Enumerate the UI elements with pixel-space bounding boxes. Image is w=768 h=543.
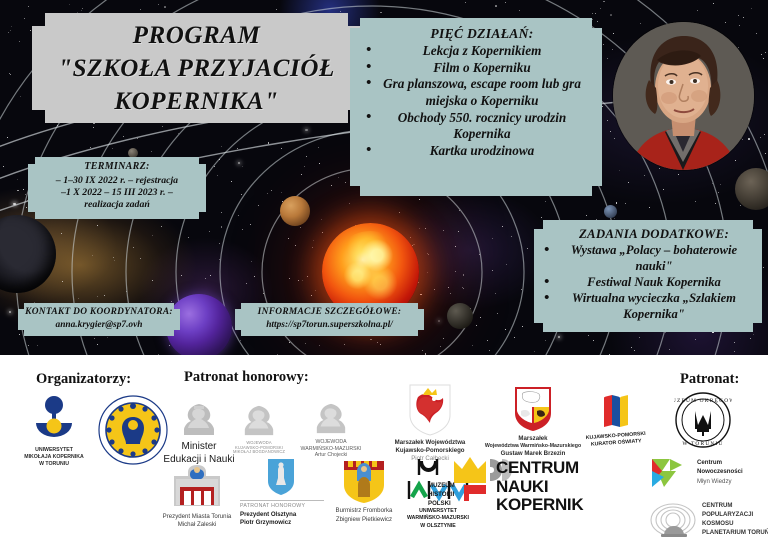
umk-caption-3: W TORUNIU bbox=[12, 461, 96, 468]
prezydent-olsztyna-logo: PATRONAT HONOROWY Prezydent Olsztyna Pio… bbox=[238, 457, 324, 528]
planet-small-dark bbox=[447, 303, 473, 329]
mhp-caption-2: HISTORII bbox=[428, 490, 455, 499]
centrum-nowoczesnosci-logo: Centrum Nowoczesności Młyn Wiedzy bbox=[648, 455, 766, 491]
extra-task-item: Festiwal Nauk Kopernika bbox=[554, 275, 754, 291]
sponsor-strip: Organizatorzy: Patronat honorowy: Patron… bbox=[0, 355, 768, 543]
schedule-panel: TERMINARZ: – 1–30 IX 2022 r. – rejestrac… bbox=[28, 157, 206, 219]
poster: PROGRAM "SZKOŁA PRZYJACIÓŁ KOPERNIKA" PI… bbox=[0, 0, 768, 543]
umk-caption-1: UNIWERSYTET bbox=[12, 447, 96, 454]
cnk-caption-1: CENTRUM bbox=[496, 459, 616, 478]
pt-caption-4: PLANETARIUM TORUŃ bbox=[702, 528, 768, 537]
title-line-2: "SZKOŁA PRZYJACIÓŁ bbox=[58, 52, 335, 85]
uwm-caption-2: WARMIŃSKO-MAZURSKI bbox=[396, 515, 480, 522]
planetarium-torun-logo: CENTRUM POPULARYZACJI KOSMOSU PLANETARIU… bbox=[648, 501, 768, 539]
action-item: Film o Koperniku bbox=[376, 60, 588, 77]
wojewoda-kujawsko-pomorski-logo: WOJEWODA KUJAWSKO-POMORSKI MIKOŁAJ BOGDA… bbox=[228, 403, 290, 455]
wojewoda-warminsko-mazurski-logo: WOJEWODA WARMIŃSKO-MAZURSKI Artur Chojec… bbox=[292, 401, 370, 459]
cnk-caption-2: NAUKI bbox=[496, 478, 616, 497]
umk-caption-2: MIKOŁAJA KOPERNIKA bbox=[12, 454, 96, 461]
group-title-honorary: Patronat honorowy: bbox=[184, 369, 309, 386]
sp7-logo bbox=[96, 395, 170, 465]
space-background: PROGRAM "SZKOŁA PRZYJACIÓŁ KOPERNIKA" PI… bbox=[0, 0, 768, 355]
schedule-line-1: – 1–30 IX 2022 r. – rejestracja bbox=[34, 175, 200, 187]
cnk-caption-3: KOPERNIK bbox=[496, 496, 616, 515]
contact-heading: KONTAKT DO KOORDYNATORA: bbox=[22, 307, 176, 319]
pt-caption-1: CENTRUM bbox=[702, 501, 768, 510]
title-line-3: KOPERNIKA" bbox=[114, 85, 278, 118]
svg-text:W TORUNIU: W TORUNIU bbox=[682, 441, 723, 447]
schedule-heading: TERMINARZ: bbox=[34, 161, 200, 174]
details-url[interactable]: https://sp7torun.superszkolna.pl/ bbox=[239, 320, 420, 332]
action-item: Lekcja z Kopernikiem bbox=[376, 43, 588, 60]
coordinator-contact-panel: KONTAKT DO KOORDYNATORA: anna.krygier@sp… bbox=[18, 303, 180, 336]
mhp-caption-1: MUZEUM bbox=[428, 481, 455, 490]
schedule-line-3: realizacja zadań bbox=[34, 199, 200, 211]
planet-orange bbox=[280, 196, 310, 226]
poster-title-panel: PROGRAM "SZKOŁA PRZYJACIÓŁ KOPERNIKA" bbox=[32, 13, 361, 123]
torun-caption-2: Michał Zaleski bbox=[146, 521, 248, 529]
cn-caption-2: Nowoczesności bbox=[697, 467, 766, 476]
centrum-nauki-kopernik-logo: CENTRUM NAUKI KOPERNIK bbox=[496, 459, 616, 515]
torun-caption-1: Prezydent Miasta Torunia bbox=[146, 513, 248, 521]
copernicus-portrait bbox=[613, 22, 754, 170]
prezydent-torunia-logo: Prezydent Miasta Torunia Michał Zaleski bbox=[146, 463, 248, 529]
marszalek-kujawsko-pomorskie-logo: Marszałek Województwa Kujawsko-Pomorskie… bbox=[380, 383, 480, 464]
details-panel: INFORMACJE SZCZEGÓŁOWE: https://sp7torun… bbox=[235, 303, 424, 336]
group-title-organizers: Organizatorzy: bbox=[36, 371, 131, 388]
action-item: Gra planszowa, escape room lub gra miejs… bbox=[376, 76, 588, 109]
five-actions-heading: PIĘĆ DZIAŁAŃ: bbox=[376, 25, 588, 42]
pt-caption-2: POPULARYZACJI bbox=[702, 510, 768, 519]
extra-tasks-heading: ZADANIA DODATKOWE: bbox=[554, 226, 754, 242]
schedule-line-2: –1 X 2022 – 15 III 2023 r. – bbox=[34, 187, 200, 199]
extra-tasks-list: Wystawa „Polacy – bohaterowie nauki" Fes… bbox=[554, 243, 754, 322]
olsztyn-caption-3: Piotr Grzymowicz bbox=[240, 519, 324, 528]
extra-task-item: Wirtualna wycieczka „Szlakiem Kopernika" bbox=[554, 291, 754, 323]
minister-edukacji-logo: Minister Edukacji i Nauki bbox=[160, 401, 238, 466]
title-line-1: PROGRAM bbox=[133, 19, 261, 52]
uwm-caption-3: W OLSZTYNIE bbox=[396, 523, 480, 530]
cn-caption-1: Centrum bbox=[697, 458, 766, 467]
mkp-caption-1: Marszałek Województwa bbox=[380, 439, 480, 447]
olsztyn-caption-1: PATRONAT HONOROWY bbox=[240, 503, 324, 511]
action-item: Obchody 550. rocznicy urodzin Kopernika bbox=[376, 110, 588, 143]
group-title-patronage: Patronat: bbox=[680, 371, 739, 388]
contact-email[interactable]: anna.krygier@sp7.ovh bbox=[22, 320, 176, 332]
planet-tiny-right bbox=[604, 205, 617, 218]
wkp-caption-3: MIKOŁAJ BOGDANOWICZ bbox=[228, 450, 290, 455]
umk-logo: UNIWERSYTET MIKOŁAJA KOPERNIKA W TORUNIU bbox=[12, 393, 96, 467]
extra-task-item: Wystawa „Polacy – bohaterowie nauki" bbox=[554, 243, 754, 275]
five-actions-panel: PIĘĆ DZIAŁAŃ: Lekcja z Kopernikiem Film … bbox=[350, 18, 602, 196]
minister-caption-1: Minister bbox=[160, 441, 238, 454]
five-actions-list: Lekcja z Kopernikiem Film o Koperniku Gr… bbox=[376, 43, 588, 159]
mhp-caption-3: POLSKI bbox=[428, 499, 455, 508]
muzeum-okregowe-torun-logo: MUZEUM OKRĘGOWE W TORUNIU bbox=[660, 391, 746, 449]
cn-caption-3: Młyn Wiedzy bbox=[697, 477, 766, 486]
svg-text:MUZEUM OKRĘGOWE: MUZEUM OKRĘGOWE bbox=[674, 398, 732, 404]
kujawsko-pomorski-kurator-oswiaty-logo: KUJAWSKO-POMORSKI KURATOR OŚWIATY bbox=[570, 391, 662, 447]
planet-tiny-upper bbox=[128, 148, 138, 158]
pt-caption-3: KOSMOSU bbox=[702, 519, 768, 528]
action-item: Kartka urodzinowa bbox=[376, 143, 588, 160]
extra-tasks-panel: ZADANIA DODATKOWE: Wystawa „Polacy – boh… bbox=[534, 220, 762, 332]
details-heading: INFORMACJE SZCZEGÓŁOWE: bbox=[239, 307, 420, 319]
olsztyn-caption-2: Prezydent Olsztyna bbox=[240, 511, 324, 520]
